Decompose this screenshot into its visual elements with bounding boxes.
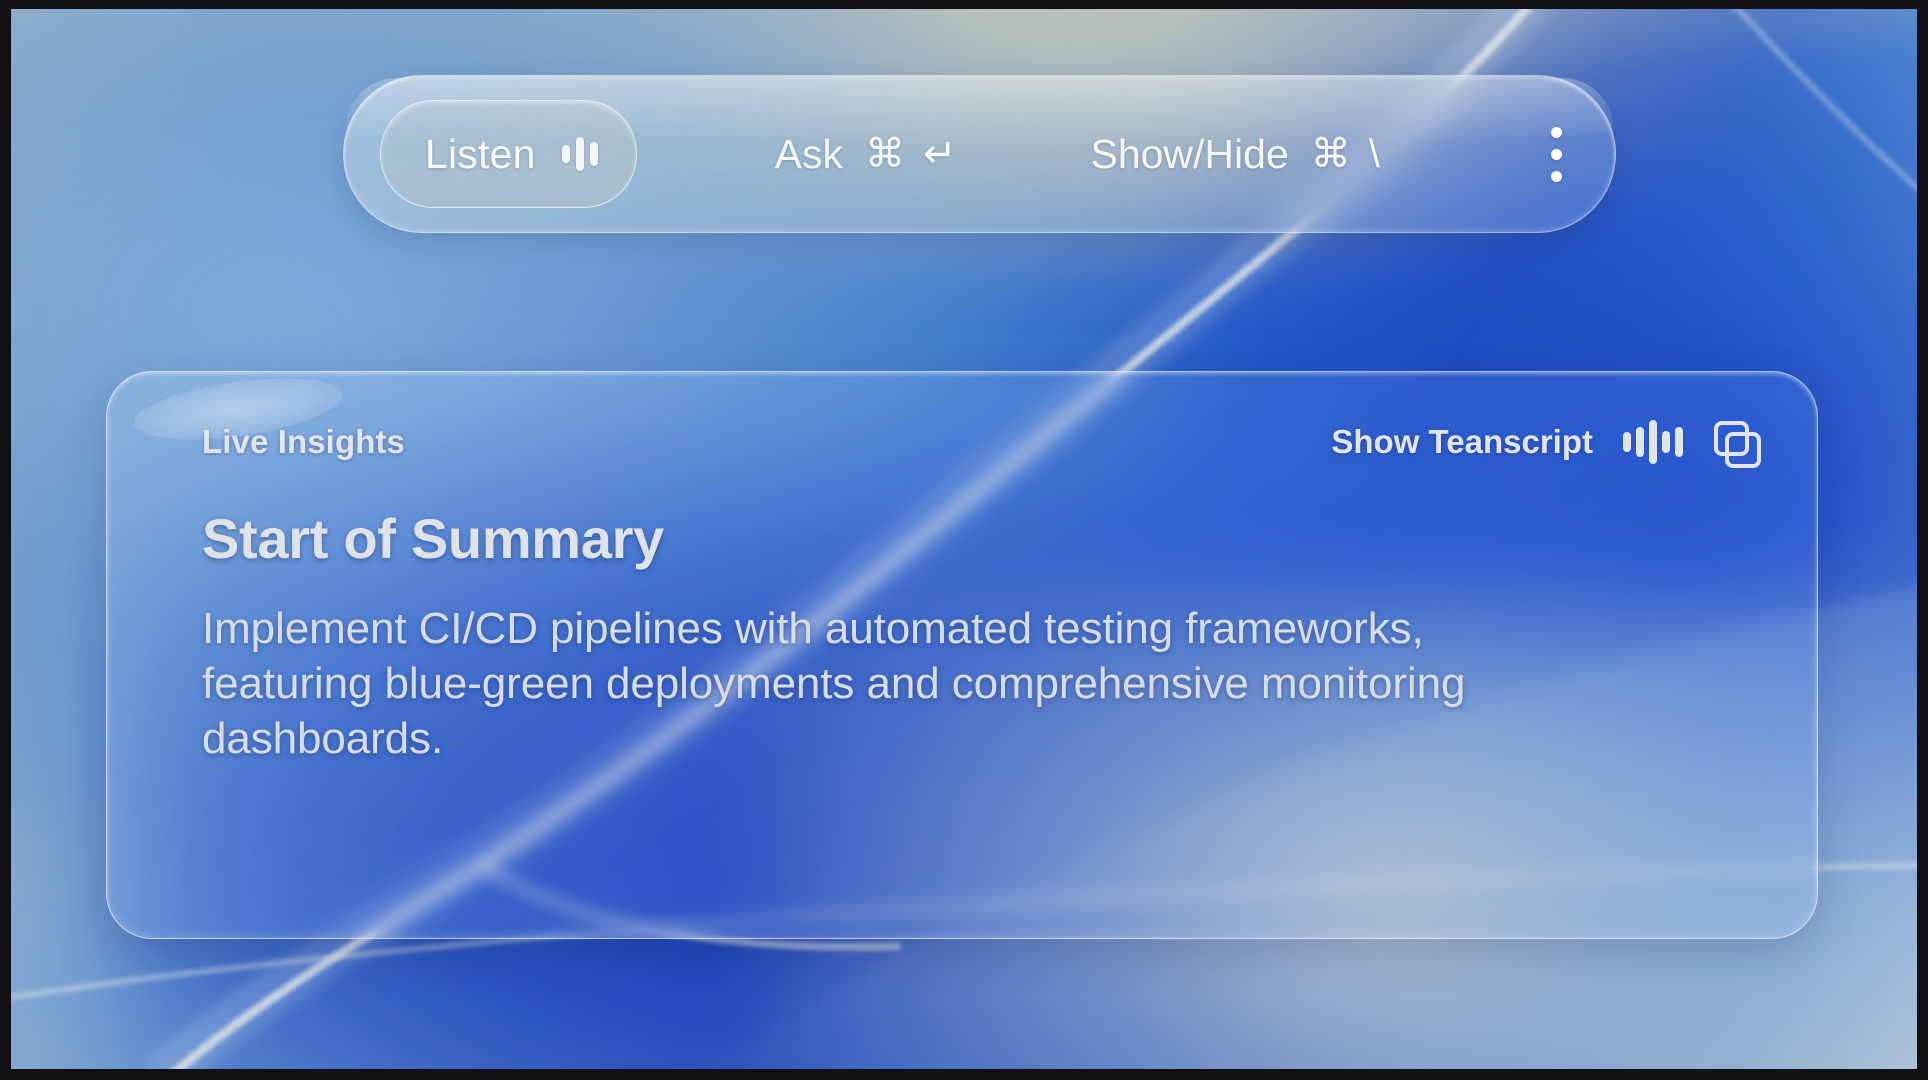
listen-button-label: Listen xyxy=(425,131,536,178)
waveform-icon xyxy=(562,133,598,175)
kebab-menu-icon[interactable] xyxy=(1527,109,1585,199)
show-hide-button[interactable]: Show/Hide ⌘ \ xyxy=(1090,131,1379,178)
summary-body-line: dashboards. xyxy=(202,717,1632,761)
ask-shortcut: ⌘ ↵ xyxy=(865,131,957,177)
summary-body-line: Implement CI/CD pipelines with automated… xyxy=(202,607,1632,651)
live-insights-label: Live Insights xyxy=(202,423,405,461)
transcript-waveform-icon[interactable] xyxy=(1623,420,1683,464)
command-key-icon: ⌘ xyxy=(865,131,905,177)
listen-button[interactable]: Listen xyxy=(380,100,637,208)
kebab-dot xyxy=(1551,127,1562,138)
kebab-dot xyxy=(1551,171,1562,182)
summary-body-line: featuring blue-green deployments and com… xyxy=(202,662,1632,706)
show-transcript-button[interactable]: Show Teanscript xyxy=(1331,423,1593,461)
screen: Listen Ask ⌘ ↵ Show/Hide ⌘ \ xyxy=(0,0,1928,1080)
copy-icon[interactable] xyxy=(1713,420,1757,464)
backslash-key-icon: \ xyxy=(1369,132,1380,177)
return-key-icon: ↵ xyxy=(923,131,957,177)
kebab-dot xyxy=(1551,149,1562,160)
ask-button[interactable]: Ask ⌘ ↵ xyxy=(775,131,957,178)
copy-icon-front-sheet xyxy=(1725,432,1761,468)
summary-body: Implement CI/CD pipelines with automated… xyxy=(202,607,1632,761)
ask-label: Ask xyxy=(775,131,843,178)
live-insights-panel: Live Insights Show Teanscript Start of S… xyxy=(106,371,1818,939)
panel-header-actions: Show Teanscript xyxy=(1331,420,1757,464)
summary-title: Start of Summary xyxy=(202,506,1757,571)
show-hide-shortcut: ⌘ \ xyxy=(1311,131,1380,177)
panel-header: Live Insights Show Teanscript xyxy=(202,420,1757,464)
show-hide-label: Show/Hide xyxy=(1090,131,1288,178)
floating-toolbar: Listen Ask ⌘ ↵ Show/Hide ⌘ \ xyxy=(343,75,1616,233)
command-key-icon: ⌘ xyxy=(1311,131,1351,177)
